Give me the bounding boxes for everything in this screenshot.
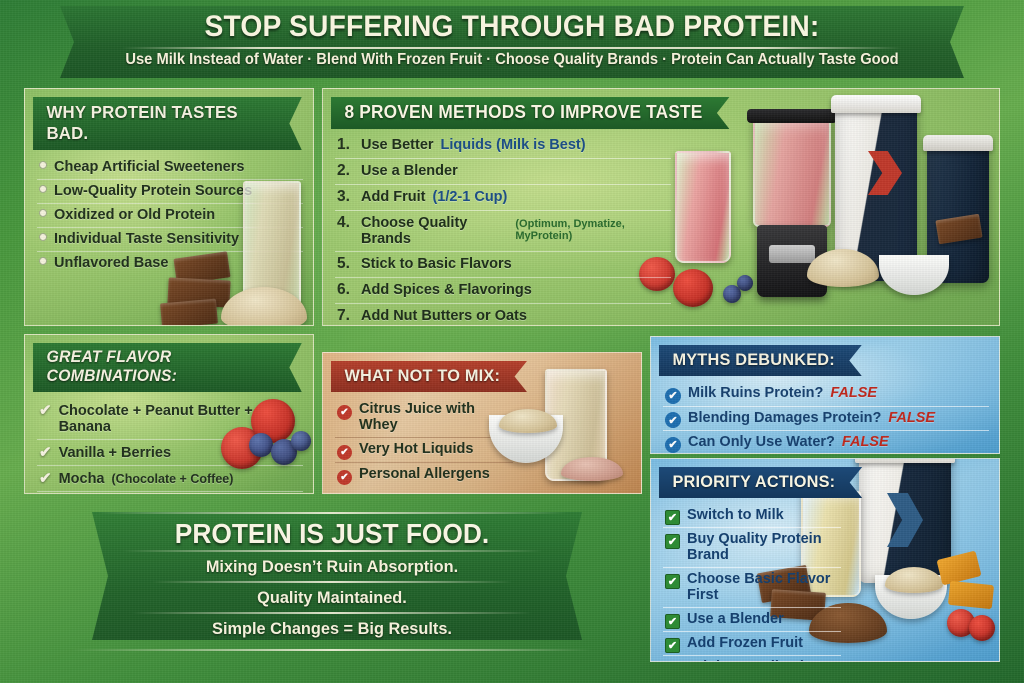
- methods-list: 1. Use Better Liquids (Milk is Best) 2. …: [323, 133, 681, 326]
- list-item: ✔ Use a Blender: [663, 608, 841, 632]
- check-circle-icon: ✔: [665, 388, 681, 404]
- check-circle-icon: ✔: [337, 445, 352, 460]
- why-bad-heading: WHY PROTEIN TASTES BAD.: [33, 97, 302, 150]
- list-item-label: Use a Blender: [361, 163, 458, 179]
- list-item: ✔ Milk Ruins Protein? FALSE: [663, 382, 989, 407]
- list-item-number: 1.: [337, 136, 354, 154]
- list-item-highlight: (1/2-1 Cup): [432, 189, 507, 205]
- priority-actions-heading: PRIORITY ACTIONS:: [659, 467, 862, 498]
- list-item-label: Use a Blender: [687, 611, 784, 627]
- list-item-label: Add Frozen Fruit: [687, 635, 803, 651]
- myth-verdict: FALSE: [888, 410, 935, 426]
- myth-question: Milk Ruins Protein?: [688, 385, 823, 401]
- poster-header: STOP SUFFERING THROUGH BAD PROTEIN: Use …: [0, 4, 1024, 78]
- checkbox-icon: ✔: [665, 534, 680, 549]
- list-item: ✔ Add Frozen Fruit: [663, 632, 841, 656]
- priority-actions-list: ✔ Switch to Milk ✔ Buy Quality Protein B…: [651, 502, 851, 662]
- methods-heading: 8 PROVEN METHODS TO IMPROVE TASTE: [331, 97, 729, 129]
- list-item-label: Personal Allergens: [359, 466, 490, 482]
- list-item-label: Choose Quality Brands: [361, 215, 508, 247]
- checkbox-icon: ✔: [665, 574, 680, 589]
- list-item: ✔ Switch to Milk: [663, 504, 841, 528]
- list-item-label: Mocha: [59, 471, 105, 487]
- list-item: ✔ Choose Basic Flavor First: [663, 568, 841, 608]
- list-item-label: Add Fruit: [361, 189, 425, 205]
- check-icon: ✔: [39, 469, 52, 487]
- footer-line-3: Simple Changes = Big Results.: [34, 614, 629, 643]
- infographic-poster: STOP SUFFERING THROUGH BAD PROTEIN: Use …: [0, 0, 1024, 683]
- check-circle-icon: ✔: [337, 470, 352, 485]
- page-title: STOP SUFFERING THROUGH BAD PROTEIN:: [31, 4, 994, 44]
- list-item: 7. Add Nut Butters or Oats: [335, 304, 671, 326]
- list-item-number: 7.: [337, 307, 354, 325]
- footer-line-2: Quality Maintained.: [34, 583, 629, 612]
- list-item: 3. Add Fruit (1/2-1 Cup): [335, 185, 671, 211]
- list-item-label: Very Hot Liquids: [359, 441, 473, 457]
- why-bad-list: Cheap Artificial Sweeteners Low-Quality …: [25, 154, 313, 279]
- list-item: 1. Use Better Liquids (Milk is Best): [335, 133, 671, 159]
- footer-divider-bottom: [72, 649, 592, 651]
- panel-priority-actions: PRIORITY ACTIONS: ✔ Switch to Milk ✔ Buy…: [650, 458, 1000, 662]
- check-icon: ✔: [39, 443, 52, 461]
- list-item: ✔ Vanilla + Tropical: [37, 492, 303, 494]
- list-item-label: Stick to Basic Flavors: [361, 256, 512, 272]
- bullet-dot-icon: [39, 233, 47, 241]
- list-item: Low-Quality Protein Sources: [37, 180, 303, 204]
- list-item-label: Buy Quality Protein Brand: [687, 531, 841, 563]
- list-item: ✔ Can Only Use Water? FALSE: [663, 431, 989, 454]
- page-subtitle: Use Milk Instead of Water · Blend With F…: [26, 51, 999, 69]
- list-item: ✔ Chocolate + Peanut Butter + Banana: [37, 398, 303, 440]
- list-item-label: Add Nut Butters or Oats: [361, 308, 527, 324]
- list-item-note: (Optimum, Dymatize, MyProtein): [515, 218, 671, 242]
- check-circle-icon: ✔: [337, 405, 352, 420]
- not-to-mix-list: ✔ Citrus Juice with Whey ✔ Very Hot Liqu…: [323, 396, 523, 491]
- myths-heading: MYTHS DEBUNKED:: [659, 345, 862, 376]
- list-item-label: Individual Taste Sensitivity: [54, 231, 239, 247]
- list-item: ✔ Mocha (Chocolate + Coffee): [37, 466, 303, 492]
- milk-glass-image: [545, 369, 607, 481]
- list-item-number: 4.: [337, 214, 354, 232]
- list-item: ✔ Citrus Juice with Whey: [335, 398, 513, 438]
- list-item-label: Switch to Milk: [687, 507, 784, 523]
- list-item-label: Vanilla + Berries: [59, 445, 171, 461]
- flavor-combos-list: ✔ Chocolate + Peanut Butter + Banana ✔ V…: [25, 396, 313, 494]
- protein-powder-pile-image: [221, 287, 307, 326]
- list-item: ✔ Very Hot Liquids: [335, 438, 513, 463]
- check-icon: ✔: [39, 401, 52, 419]
- checkbox-icon: ✔: [665, 614, 680, 629]
- bullet-dot-icon: [39, 209, 47, 217]
- bullet-dot-icon: [39, 257, 47, 265]
- list-item-label: Unflavored Base: [54, 255, 168, 271]
- myth-verdict: FALSE: [842, 434, 889, 450]
- list-item-label: Choose Basic Flavor First: [687, 571, 841, 603]
- list-item: ✔ Blending Damages Protein? FALSE: [663, 407, 989, 432]
- myth-verdict: FALSE: [830, 385, 877, 401]
- list-item: Oxidized or Old Protein: [37, 204, 303, 228]
- bullet-dot-icon: [39, 161, 47, 169]
- powder-spill-image: [561, 457, 623, 481]
- list-item-label: Citrus Juice with Whey: [359, 401, 513, 433]
- checkbox-icon: ✔: [665, 510, 680, 525]
- flavor-combos-heading: GREAT FLAVOR COMBINATIONS:: [33, 343, 302, 392]
- footer-line-1: Mixing Doesn’t Ruin Absorption.: [34, 552, 629, 581]
- list-item: Individual Taste Sensitivity: [37, 228, 303, 252]
- myth-question: Can Only Use Water?: [688, 434, 835, 450]
- chocolate-chunk-image: [160, 299, 218, 326]
- list-item-label: Add Spices & Flavorings: [361, 282, 532, 298]
- list-item: 4. Choose Quality Brands (Optimum, Dymat…: [335, 211, 671, 252]
- list-item: ✔ Vanilla + Berries: [37, 440, 303, 466]
- list-item-highlight: Liquids (Milk is Best): [441, 137, 586, 153]
- list-item: ✔ Personal Allergens: [335, 463, 513, 487]
- check-circle-icon: ✔: [665, 412, 681, 428]
- list-item-note: (Chocolate + Coffee): [112, 472, 234, 486]
- list-item-label: Oxidized or Old Protein: [54, 207, 215, 223]
- myths-list: ✔ Milk Ruins Protein? FALSE ✔ Blending D…: [651, 380, 999, 454]
- panel-myths-debunked: MYTHS DEBUNKED: ✔ Milk Ruins Protein? FA…: [650, 336, 1000, 454]
- list-item: Unflavored Base: [37, 252, 303, 275]
- list-item-label: Use Better: [361, 137, 434, 153]
- list-item-label: Drink Immediately: [687, 659, 812, 662]
- list-item: 5. Stick to Basic Flavors: [335, 252, 671, 278]
- panel-why-protein-tastes-bad: WHY PROTEIN TASTES BAD. Cheap Artificial…: [24, 88, 314, 326]
- myth-question: Blending Damages Protein?: [688, 410, 881, 426]
- panel-8-proven-methods: 8 PROVEN METHODS TO IMPROVE TASTE 1. Use…: [322, 88, 1000, 326]
- list-item-label: Low-Quality Protein Sources: [54, 183, 252, 199]
- panel-great-flavor-combinations: GREAT FLAVOR COMBINATIONS: ✔ Chocolate +…: [24, 334, 314, 494]
- list-item-number: 6.: [337, 281, 354, 299]
- list-item-label: Chocolate + Peanut Butter + Banana: [59, 403, 303, 435]
- check-circle-icon: ✔: [665, 437, 681, 453]
- list-item: ✔ Drink Immediately: [663, 656, 841, 662]
- chocolate-chunk-image: [167, 277, 230, 307]
- not-to-mix-heading: WHAT NOT TO MIX:: [331, 361, 527, 392]
- panel-what-not-to-mix: WHAT NOT TO MIX: ✔ Citrus Juice with Whe…: [322, 352, 642, 494]
- bullet-dot-icon: [39, 185, 47, 193]
- poster-footer: PROTEIN IS JUST FOOD. Mixing Doesn’t Rui…: [22, 504, 642, 664]
- checkbox-icon: ✔: [665, 638, 680, 653]
- list-item-label: Cheap Artificial Sweeteners: [54, 159, 244, 175]
- list-item-number: 5.: [337, 255, 354, 273]
- list-item: 2. Use a Blender: [335, 159, 671, 185]
- list-item-number: 3.: [337, 188, 354, 206]
- title-divider: [122, 47, 902, 49]
- list-item: Cheap Artificial Sweeteners: [37, 156, 303, 180]
- footer-title: PROTEIN IS JUST FOOD.: [41, 514, 624, 550]
- list-item: ✔ Buy Quality Protein Brand: [663, 528, 841, 568]
- list-item: 6. Add Spices & Flavorings: [335, 278, 671, 304]
- list-item-number: 2.: [337, 162, 354, 180]
